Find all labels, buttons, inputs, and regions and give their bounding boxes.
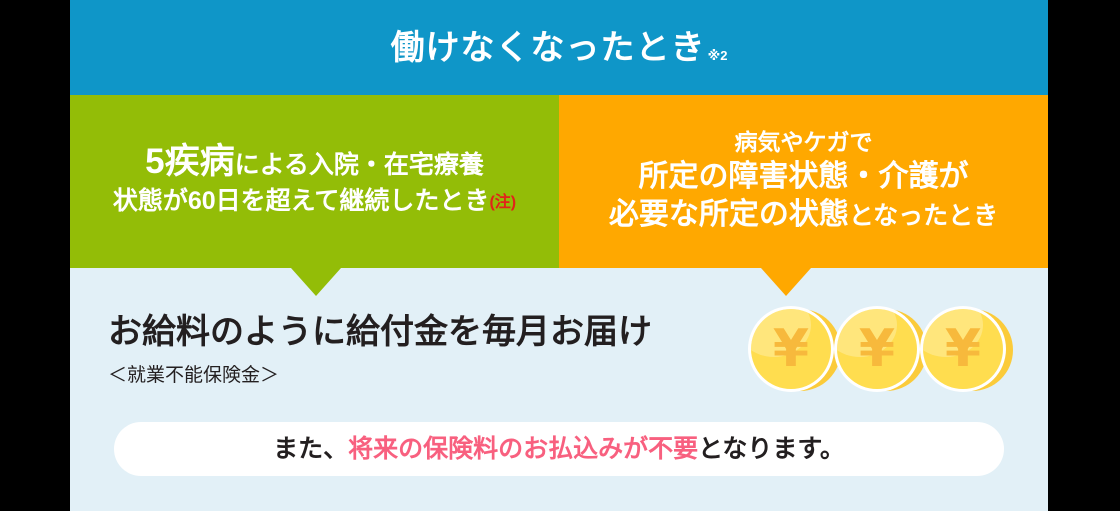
condition-orange-line3: 必要な所定の状態となったとき — [609, 196, 998, 234]
insurance-benefit-infographic: 働けなくなったとき ※2 5疾病による入院・在宅療養 状態が60日を超えて継続し… — [70, 0, 1048, 511]
condition-green-line1: 5疾病による入院・在宅療養 — [145, 140, 484, 185]
condition-orange-line3-strong: 必要な所定の状態 — [609, 198, 849, 231]
condition-card-green: 5疾病による入院・在宅療養 状態が60日を超えて継続したとき(注) — [70, 95, 559, 268]
header-band: 働けなくなったとき ※2 — [70, 0, 1048, 95]
yen-coin-icon: ¥ — [834, 306, 922, 394]
yen-symbol: ¥ — [920, 306, 1006, 392]
condition-green-line2-text: 状態が60日を超えて継続したとき — [113, 187, 490, 215]
header-footnote-marker: ※2 — [708, 48, 728, 64]
condition-green-line1-strong: 5疾病 — [145, 142, 234, 181]
premium-waiver-suffix: となります。 — [698, 435, 845, 463]
premium-waiver-text: また、将来の保険料のお払込みが不要となります。 — [273, 437, 845, 462]
premium-waiver-prefix: また、 — [273, 435, 348, 463]
condition-green-line2: 状態が60日を超えて継続したとき(注) — [113, 185, 516, 217]
benefit-subtitle: ＜就業不能保険金＞ — [108, 360, 708, 387]
benefit-text-block: お給料のように給付金を毎月お届け ＜就業不能保険金＞ — [108, 314, 708, 387]
premium-waiver-highlight: 将来の保険料のお払込みが不要 — [348, 435, 698, 463]
benefit-title: お給料のように給付金を毎月お届け — [108, 314, 708, 351]
arrow-down-orange-icon — [761, 268, 811, 296]
condition-orange-line1: 病気やケガで — [735, 128, 873, 157]
coin-stack: ¥ ¥ ¥ — [748, 306, 1038, 396]
condition-green-note-marker: (注) — [489, 194, 516, 211]
yen-symbol: ¥ — [748, 306, 834, 392]
yen-coin-icon: ¥ — [920, 306, 1008, 394]
arrow-down-green-icon — [291, 268, 341, 296]
benefit-section: お給料のように給付金を毎月お届け ＜就業不能保険金＞ ¥ ¥ — [70, 268, 1048, 511]
yen-symbol: ¥ — [834, 306, 920, 392]
premium-waiver-pill: また、将来の保険料のお払込みが不要となります。 — [114, 422, 1004, 476]
condition-orange-line3-rest: となったとき — [849, 202, 998, 230]
condition-orange-line2: 所定の障害状態・介護が — [639, 158, 969, 196]
header-title: 働けなくなったとき — [391, 31, 706, 65]
yen-coin-icon: ¥ — [748, 306, 836, 394]
conditions-row: 5疾病による入院・在宅療養 状態が60日を超えて継続したとき(注) 病気やケガで… — [70, 95, 1048, 268]
condition-green-line1-rest: による入院・在宅療養 — [235, 151, 484, 179]
condition-card-orange: 病気やケガで 所定の障害状態・介護が 必要な所定の状態となったとき — [559, 95, 1048, 268]
screenshot-root: 働けなくなったとき ※2 5疾病による入院・在宅療養 状態が60日を超えて継続し… — [0, 0, 1120, 511]
